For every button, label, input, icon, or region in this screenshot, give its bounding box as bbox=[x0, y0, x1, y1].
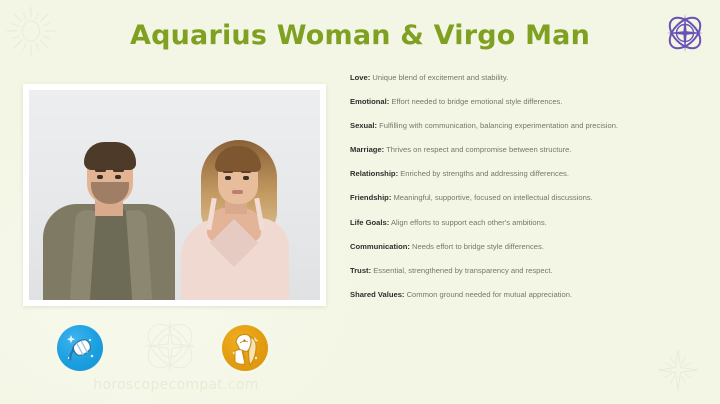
trait-label: Relationship: bbox=[350, 169, 398, 178]
trait-description: Thrives on respect and compromise betwee… bbox=[386, 145, 571, 154]
atom-flower-logo-icon[interactable] bbox=[661, 9, 709, 57]
trait-label: Love: bbox=[350, 73, 370, 82]
zodiac-badge-aquarius[interactable] bbox=[57, 325, 103, 371]
trait-label: Emotional: bbox=[350, 97, 389, 106]
trait-row: Friendship: Meaningful, supportive, focu… bbox=[350, 193, 698, 203]
trait-row: Communication: Needs effort to bridge st… bbox=[350, 242, 698, 252]
woman-eye-right bbox=[243, 176, 249, 180]
trait-description: Unique blend of excitement and stability… bbox=[372, 73, 508, 82]
couple-photo-frame bbox=[23, 84, 326, 306]
trait-description: Common ground needed for mutual apprecia… bbox=[407, 290, 572, 299]
trait-row: Trust: Essential, strengthened by transp… bbox=[350, 266, 698, 276]
trait-description: Needs effort to bridge style differences… bbox=[412, 242, 544, 251]
slide-canvas: Aquarius Woman & Virgo Man bbox=[0, 0, 720, 404]
man-eye-left bbox=[97, 175, 103, 179]
woman-eye-left bbox=[225, 176, 231, 180]
trait-description: Essential, strengthened by transparency … bbox=[373, 266, 552, 275]
site-url-watermark: horoscopecompat.com bbox=[76, 377, 276, 393]
trait-row: Shared Values: Common ground needed for … bbox=[350, 290, 698, 300]
trait-description: Effort needed to bridge emotional style … bbox=[391, 97, 562, 106]
woman-lips bbox=[232, 190, 243, 194]
page-title: Aquarius Woman & Virgo Man bbox=[0, 20, 720, 51]
woman-eyebrow-left bbox=[223, 171, 233, 173]
trait-row: Sexual: Fulfilling with communication, b… bbox=[350, 121, 698, 131]
trait-label: Communication: bbox=[350, 242, 410, 251]
aquarius-water-bearer-icon bbox=[57, 325, 103, 371]
trait-row: Marriage: Thrives on respect and comprom… bbox=[350, 145, 698, 155]
trait-label: Trust: bbox=[350, 266, 371, 275]
man-hair bbox=[84, 142, 136, 170]
virgo-maiden-icon bbox=[222, 325, 268, 371]
couple-photo bbox=[29, 90, 320, 300]
man-eye-right bbox=[115, 175, 121, 179]
trait-label: Shared Values: bbox=[350, 290, 404, 299]
trait-row: Emotional: Effort needed to bridge emoti… bbox=[350, 97, 698, 107]
man-eyebrow-right bbox=[113, 169, 124, 172]
trait-row: Relationship: Enriched by strengths and … bbox=[350, 169, 698, 179]
trait-label: Sexual: bbox=[350, 121, 377, 130]
trait-description: Meaningful, supportive, focused on intel… bbox=[393, 193, 592, 202]
sparkle-star-watermark-icon bbox=[654, 346, 702, 399]
trait-label: Life Goals: bbox=[350, 218, 389, 227]
man-eyebrow-left bbox=[95, 169, 106, 172]
trait-label: Friendship: bbox=[350, 193, 391, 202]
trait-description: Align efforts to support each other's am… bbox=[391, 218, 547, 227]
woman-eyebrow-right bbox=[241, 171, 251, 173]
trait-row: Life Goals: Align efforts to support eac… bbox=[350, 218, 698, 228]
trait-row: Love: Unique blend of excitement and sta… bbox=[350, 73, 698, 83]
trait-label: Marriage: bbox=[350, 145, 384, 154]
compatibility-traits-list: Love: Unique blend of excitement and sta… bbox=[350, 73, 698, 314]
atom-flower-watermark-icon bbox=[136, 314, 204, 383]
trait-description: Enriched by strengths and addressing dif… bbox=[400, 169, 569, 178]
zodiac-badge-virgo[interactable] bbox=[222, 325, 268, 371]
trait-description: Fulfilling with communication, balancing… bbox=[379, 121, 618, 130]
